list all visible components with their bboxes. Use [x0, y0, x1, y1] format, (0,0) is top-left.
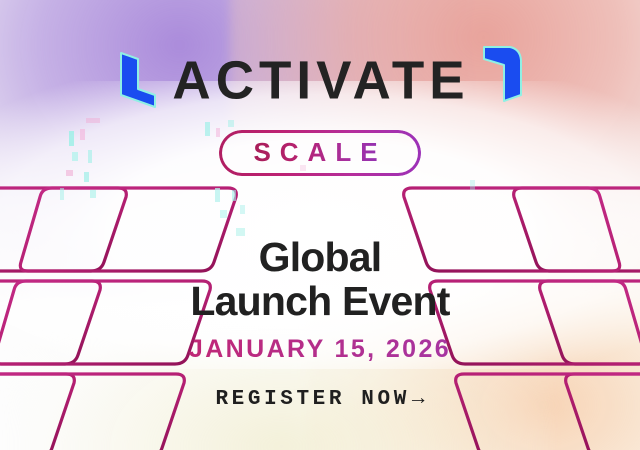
headline-line-1: Global [0, 236, 640, 280]
register-now-label: REGISTER NOW [215, 388, 409, 411]
banner-content: ACTIVATE SCALE Global Launch Event JANUA… [0, 0, 640, 450]
arrow-right-icon: → [412, 388, 425, 411]
corner-bracket-right-icon [480, 43, 526, 105]
sub-brand-row: SCALE [0, 130, 640, 176]
brand-wordmark: ACTIVATE [172, 53, 469, 107]
sub-brand-label: SCALE [253, 137, 386, 167]
promo-banner: ACTIVATE SCALE Global Launch Event JANUA… [0, 0, 640, 450]
register-now-button[interactable]: REGISTER NOW→ [0, 388, 640, 411]
corner-bracket-left-icon [114, 49, 158, 111]
headline-line-2: Launch Event [0, 280, 640, 324]
page-title: Global Launch Event [0, 236, 640, 324]
brand-wordmark-row: ACTIVATE [0, 46, 640, 114]
sub-brand-pill: SCALE [219, 130, 420, 176]
event-date: JANUARY 15, 2026 [0, 335, 640, 364]
